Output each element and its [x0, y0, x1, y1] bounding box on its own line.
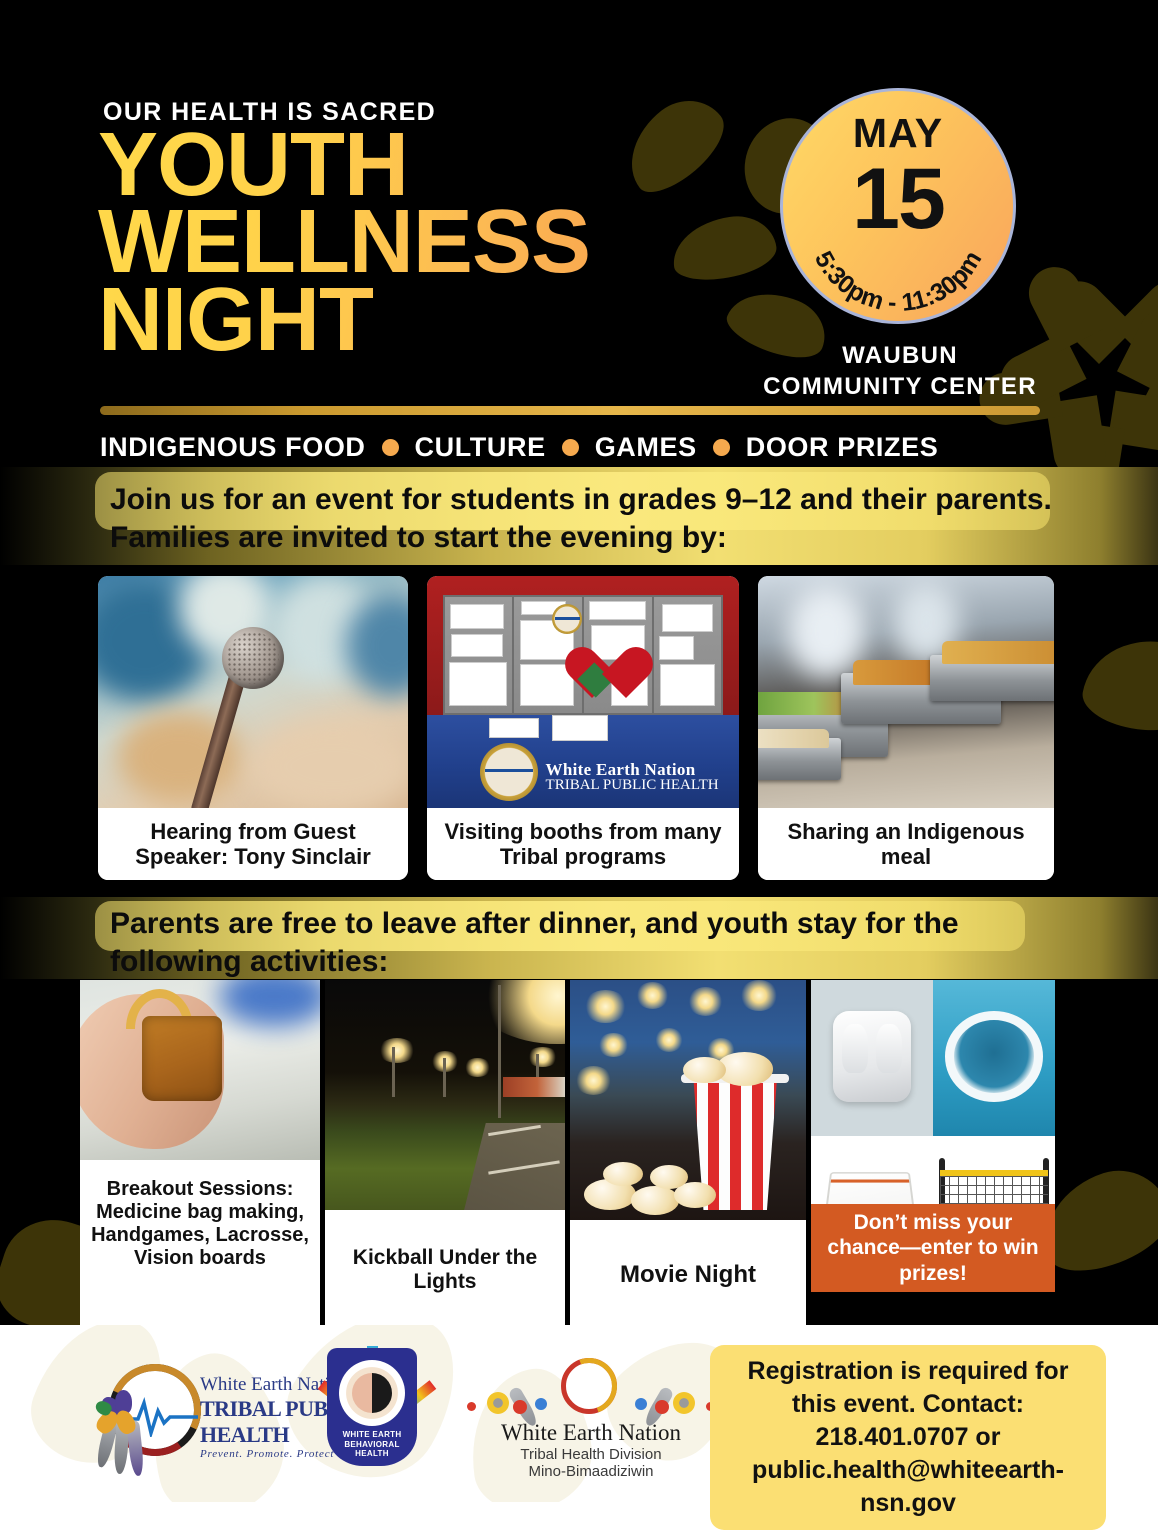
page-title: YOUTH WELLNESS NIGHT [98, 127, 738, 359]
prize-banner: Don’t miss your chance—enter to win priz… [811, 1204, 1055, 1292]
card-tribal-booths[interactable]: White Earth Nation TRIBAL PUBLIC HEALTH … [427, 576, 739, 880]
logo-2-line-1: WHITE EARTH [327, 1430, 417, 1440]
bullet-dot-icon [382, 439, 399, 456]
features-bar: INDIGENOUS FOOD CULTURE GAMES DOOR PRIZE… [100, 432, 1062, 463]
card-caption: Breakout Sessions: Medicine bag making, … [80, 1160, 320, 1288]
logo-3-line-2: Tribal Health Division [457, 1446, 725, 1463]
popcorn-photo [570, 980, 806, 1220]
logo-2-line-2: BEHAVIORAL HEALTH [327, 1440, 417, 1459]
date-badge: MAY 15 5:30pm - 11:30pm [780, 88, 1016, 324]
card-guest-speaker[interactable]: Hearing from Guest Speaker: Tony Sinclai… [98, 576, 408, 880]
white-earth-tribal-health-division-logo: White Earth Nation Tribal Health Divisio… [457, 1358, 725, 1470]
registration-info-box: Registration is required for this event.… [710, 1345, 1106, 1530]
date-badge-time-arc: 5:30pm - 11:30pm [780, 88, 1016, 324]
logo-3-line-1: White Earth Nation [457, 1420, 725, 1446]
medicine-bag-photo [80, 980, 320, 1160]
venue-block: WAUBUN COMMUNITY CENTER [700, 340, 1100, 402]
bullet-dot-icon [713, 439, 730, 456]
gold-divider-rule [100, 406, 1040, 415]
booth-org-line-2: TRIBAL PUBLIC HEALTH [546, 777, 719, 793]
svg-text:5:30pm - 11:30pm: 5:30pm - 11:30pm [809, 246, 988, 317]
section-2-card-row: Breakout Sessions: Medicine bag making, … [80, 980, 1055, 1330]
feature-item-indigenous-food: INDIGENOUS FOOD [100, 432, 366, 463]
bullet-dot-icon [562, 439, 579, 456]
card-caption: Sharing an Indigenous meal [758, 808, 1054, 880]
section-2-heading: Parents are free to leave after dinner, … [110, 905, 1070, 982]
booth-org-line-1: White Earth Nation [546, 761, 719, 779]
inflatable-pool-photo [933, 980, 1055, 1136]
tribal-booth-photo: White Earth Nation TRIBAL PUBLIC HEALTH [427, 576, 739, 808]
card-movie-night[interactable]: Movie Night [570, 980, 806, 1330]
white-earth-behavioral-health-logo: WHITE EARTH BEHAVIORAL HEALTH [327, 1348, 427, 1480]
card-indigenous-meal[interactable]: Sharing an Indigenous meal [758, 576, 1054, 880]
logo-3-line-3: Mino-Bimaadiziwin [457, 1463, 725, 1480]
date-badge-time: 5:30pm - 11:30pm [809, 246, 988, 317]
section-1-heading: Join us for an event for students in gra… [110, 481, 1070, 558]
booth-photo-org-text: White Earth Nation TRIBAL PUBLIC HEALTH [546, 761, 719, 795]
poster-root: OUR HEALTH IS SACRED YOUTH WELLNESS NIGH… [0, 0, 1158, 1502]
feature-item-games: GAMES [595, 432, 697, 463]
venue-line-1: WAUBUN [700, 340, 1100, 371]
earbuds-photo [811, 980, 933, 1136]
card-caption: Kickball Under the Lights [325, 1210, 565, 1330]
petal-shape-icon [1078, 630, 1158, 739]
feature-item-culture: CULTURE [415, 432, 546, 463]
prize-collage: Don’t miss your chance—enter to win priz… [811, 980, 1055, 1292]
buffet-photo [758, 576, 1054, 808]
card-door-prizes[interactable]: Don’t miss your chance—enter to win priz… [811, 980, 1055, 1292]
footer-logos: White Earth Nation TRIBAL PUBLIC HEALTH … [95, 1348, 695, 1488]
card-kickball[interactable]: Kickball Under the Lights [325, 980, 565, 1330]
night-field-photo [325, 980, 565, 1210]
card-breakout-sessions[interactable]: Breakout Sessions: Medicine bag making, … [80, 980, 320, 1330]
feature-item-door-prizes: DOOR PRIZES [746, 432, 939, 463]
section-1-card-row: Hearing from Guest Speaker: Tony Sinclai… [98, 576, 1054, 880]
microphone-photo [98, 576, 408, 808]
card-caption: Visiting booths from many Tribal program… [427, 808, 739, 880]
title-line-3: NIGHT [98, 282, 738, 359]
card-caption: Hearing from Guest Speaker: Tony Sinclai… [98, 808, 408, 880]
card-caption: Movie Night [570, 1220, 806, 1330]
venue-line-2: COMMUNITY CENTER [700, 371, 1100, 402]
